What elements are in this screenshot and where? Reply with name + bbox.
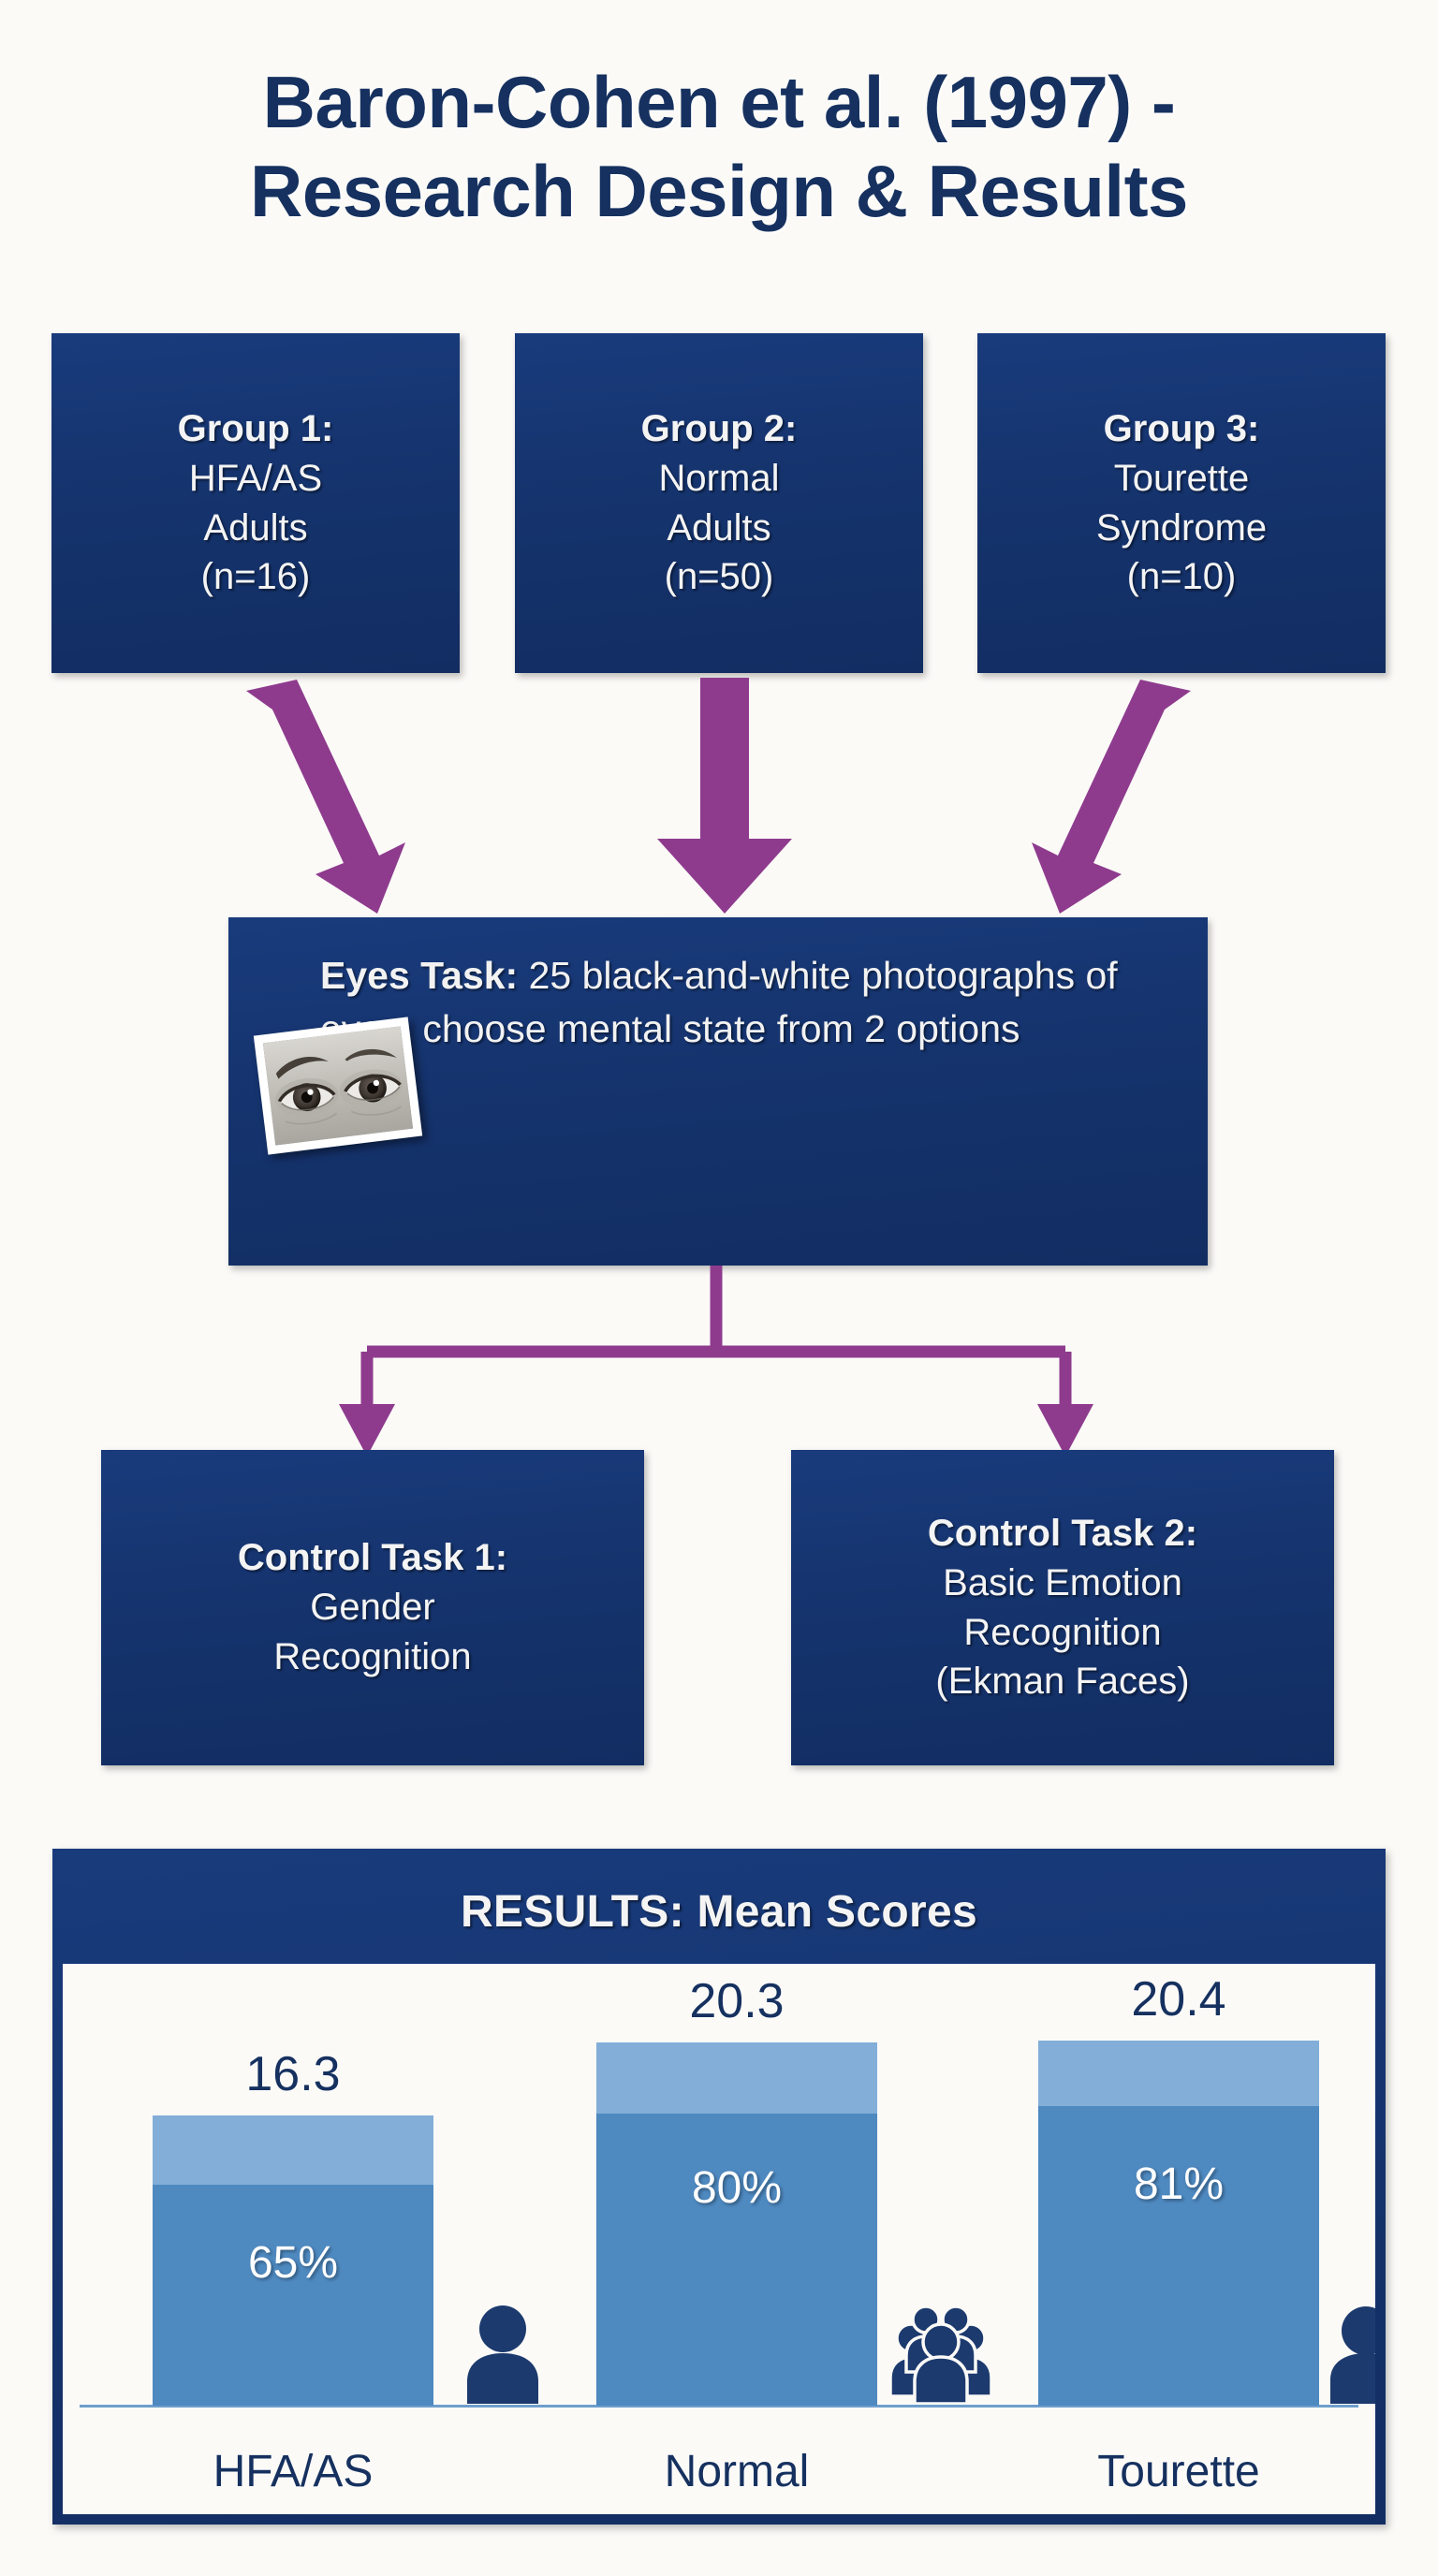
group-box-3: Group 3: Tourette Syndrome (n=10) [977,333,1386,673]
page-title-line2: Research Design & Results [0,147,1438,236]
group-box-2: Group 2: Normal Adults (n=50) [515,333,923,673]
arrow-down-left-icon [974,672,1198,917]
results-panel: RESULTS: Mean Scores 16.3 65% 20.3 [52,1849,1386,2525]
bar-percent-hfa-as: 65% [153,2237,433,2289]
bar-value-tourette: 20.4 [1038,1971,1319,2027]
people-group-icon [890,2299,991,2404]
group-2-line2: Adults [667,504,770,553]
page-title: Baron-Cohen et al. (1997) - Research Des… [0,58,1438,236]
bar-cap-hfa-as [153,2115,433,2185]
person-tic-icon [1328,2299,1375,2404]
bar-percent-normal: 80% [596,2162,877,2214]
arrow-down-icon [618,672,824,917]
branch-arrowhead-left [339,1404,395,1456]
group-3-line1: Tourette [1114,454,1250,504]
group-2-header: Group 2: [641,404,798,454]
bar-value-normal: 20.3 [596,1973,877,2029]
group-2-line3: (n=50) [665,552,774,602]
group-1-line2: Adults [203,504,307,553]
group-3-line2: Syndrome [1096,504,1267,553]
results-title: RESULTS: Mean Scores [63,1859,1375,1964]
group-2-line1: Normal [659,454,780,504]
results-bar-chart: 16.3 65% 20.3 80% [63,1964,1375,2514]
control-task-1-line1: Gender [310,1583,434,1632]
bar-group-hfa-as: 16.3 65% [153,2115,433,2406]
bar-group-normal: 20.3 80% [596,2042,877,2406]
control-task-2-line2: Recognition [963,1608,1161,1658]
bar-label-normal: Normal [596,2446,877,2497]
group-1-line1: HFA/AS [189,454,322,504]
control-task-2-header: Control Task 2: [928,1509,1197,1559]
group-3-line3: (n=10) [1127,552,1237,602]
page-title-line1: Baron-Cohen et al. (1997) - [263,61,1176,143]
bar-percent-tourette: 81% [1038,2159,1319,2210]
control-task-2-line1: Basic Emotion [943,1559,1182,1608]
control-task-2-box: Control Task 2: Basic Emotion Recognitio… [791,1450,1334,1765]
control-task-1-box: Control Task 1: Gender Recognition [101,1450,644,1765]
group-1-header: Group 1: [178,404,334,454]
bar-normal: 80% [596,2042,877,2406]
control-task-1-line2: Recognition [273,1632,471,1682]
bar-cap-tourette [1038,2041,1319,2106]
bar-cap-normal [596,2042,877,2114]
group-3-header: Group 3: [1104,404,1260,454]
bar-hfa-as: 65% [153,2115,433,2406]
person-icon [463,2299,542,2404]
eyes-photo-illustration [263,1026,413,1145]
eyes-task-label: Eyes Task: [320,954,518,997]
bar-label-hfa-as: HFA/AS [153,2446,433,2497]
bar-tourette: 81% [1038,2041,1319,2406]
infographic-page: Baron-Cohen et al. (1997) - Research Des… [0,0,1438,2576]
branch-connector [281,1266,1152,1457]
branch-arrowhead-right [1037,1404,1093,1456]
eyes-task-box: Eyes Task: 25 black-and-white photograph… [228,917,1208,1266]
bar-label-tourette: Tourette [1038,2446,1319,2497]
group-1-line3: (n=16) [201,552,311,602]
arrow-down-right-icon [239,672,463,917]
bar-group-tourette: 20.4 81% [1038,2041,1319,2406]
control-task-1-header: Control Task 1: [238,1533,507,1583]
eyes-photograph [254,1017,422,1154]
control-task-2-line3: (Ekman Faces) [935,1657,1189,1706]
bar-value-hfa-as: 16.3 [153,2046,433,2102]
group-box-1: Group 1: HFA/AS Adults (n=16) [51,333,460,673]
